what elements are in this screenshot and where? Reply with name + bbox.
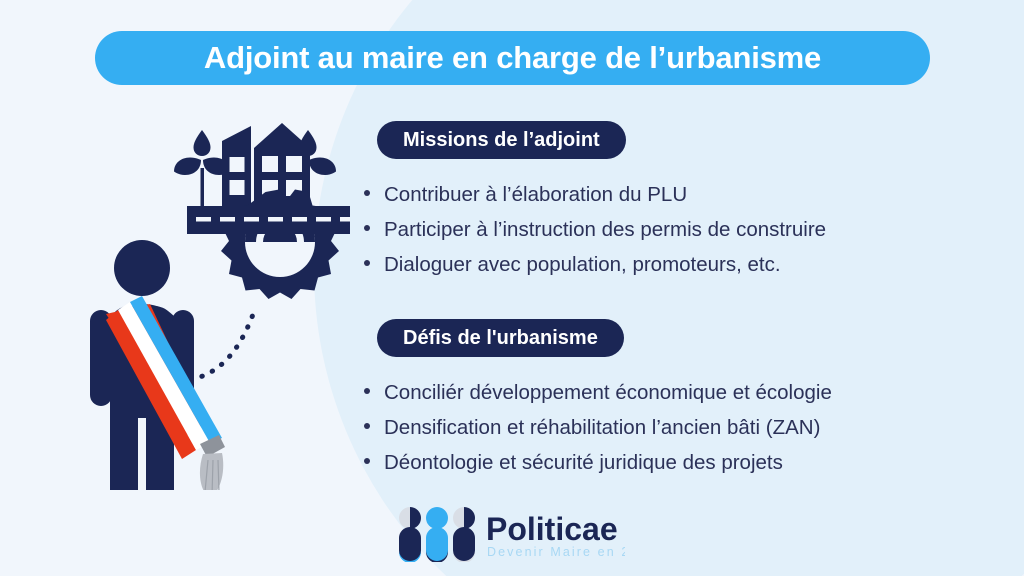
bullet-dot-icon (364, 190, 370, 196)
page-title-text: Adjoint au maire en charge de l’urbanism… (204, 40, 821, 76)
building-left-icon (222, 126, 251, 206)
three-people-icon (399, 507, 475, 562)
road-bar-icon (187, 206, 350, 234)
bullet-dot-icon (364, 388, 370, 394)
page-title: Adjoint au maire en charge de l’urbanism… (95, 31, 930, 85)
infographic-canvas: Adjoint au maire en charge de l’urbanism… (0, 0, 1024, 576)
bullet-dot-icon (364, 260, 370, 266)
missions-list: Contribuer à l’élaboration du PLU Partic… (364, 183, 826, 288)
illustration (60, 120, 350, 490)
logo-tagline: Devenir Maire en 2026 (487, 545, 625, 559)
section-heading-defis-text: Défis de l'urbanisme (403, 327, 598, 350)
list-item: Densification et réhabilitation l’ancien… (364, 416, 832, 451)
list-item: Contribuer à l’élaboration du PLU (364, 183, 826, 218)
background-blob (314, 0, 1024, 576)
logo-wordmark: Politicae (486, 511, 618, 547)
list-item: Déontologie et sécurité juridique des pr… (364, 451, 832, 486)
sash-tassel (200, 435, 225, 490)
list-item-label: Densification et réhabilitation l’ancien… (384, 416, 820, 440)
section-heading-missions-text: Missions de l’adjoint (403, 129, 600, 152)
defis-list: Conciliér développement économique et éc… (364, 381, 832, 486)
mayor-figure-icon (90, 240, 225, 490)
plant-left-icon (174, 130, 230, 206)
list-item-label: Conciliér développement économique et éc… (384, 381, 832, 405)
list-item: Participer à l’instruction des permis de… (364, 218, 826, 253)
list-item-label: Dialoguer avec population, promoteurs, e… (384, 253, 781, 277)
list-item-label: Déontologie et sécurité juridique des pr… (384, 451, 783, 475)
section-heading-missions: Missions de l’adjoint (377, 121, 626, 159)
urbanism-icon (174, 123, 350, 299)
bullet-dot-icon (364, 458, 370, 464)
list-item: Conciliér développement économique et éc… (364, 381, 832, 416)
bullet-dot-icon (364, 423, 370, 429)
section-heading-defis: Défis de l'urbanisme (377, 319, 624, 357)
politicae-logo: Politicae Devenir Maire en 2026 (399, 506, 625, 562)
bullet-dot-icon (364, 225, 370, 231)
list-item: Dialoguer avec population, promoteurs, e… (364, 253, 826, 288)
list-item-label: Participer à l’instruction des permis de… (384, 218, 826, 242)
list-item-label: Contribuer à l’élaboration du PLU (384, 183, 687, 207)
